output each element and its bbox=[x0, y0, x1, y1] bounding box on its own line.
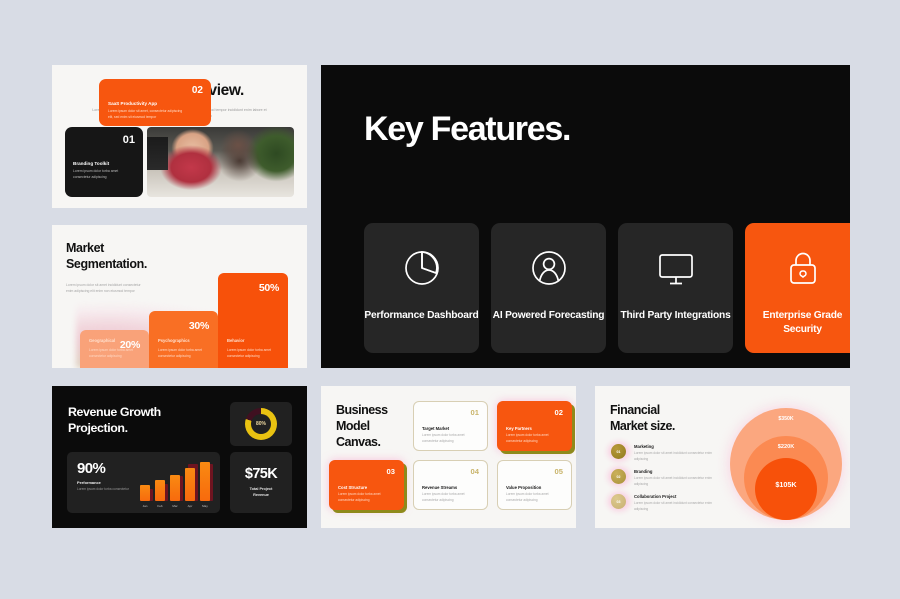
product-photo bbox=[147, 127, 294, 197]
bar bbox=[200, 462, 210, 501]
cell-body: Lorem ipsum dolor torba amet consectetur… bbox=[506, 433, 563, 444]
key-features-card-row: Performance DashboardAI Powered Forecast… bbox=[364, 223, 850, 353]
market-circle: $105K bbox=[755, 458, 817, 520]
title-line-2: Projection. bbox=[68, 421, 128, 435]
page-title: Key Features. bbox=[364, 110, 570, 149]
total-revenue-card: $75K Total Project Revenue bbox=[230, 452, 292, 513]
cell-number: 05 bbox=[555, 467, 563, 476]
bar bbox=[140, 485, 150, 501]
segment-description: Lorem ipsum dolor torba amet consectetur… bbox=[158, 348, 209, 360]
title-line-1: Financial bbox=[610, 403, 660, 417]
title-line-3: Canvas. bbox=[336, 435, 380, 449]
cell-body: Lorem ipsum dolor torba amet consectetur… bbox=[422, 433, 479, 444]
bar bbox=[185, 468, 195, 501]
title-line-1: Business bbox=[336, 403, 388, 417]
key-feature-card[interactable]: Third Party Integrations bbox=[618, 223, 733, 353]
legend-number-badge: 01 bbox=[611, 444, 626, 459]
title-line-2: Market size. bbox=[610, 419, 675, 433]
slide-deck-preview: Product Overview. Lorem ipsum dolor sit … bbox=[0, 0, 900, 599]
legend-heading: Collaboration Project bbox=[634, 494, 676, 499]
financial-legend: 01MarketingLorem ipsum dolor sit amet in… bbox=[608, 443, 718, 518]
cell-heading: Target Market bbox=[422, 426, 449, 431]
revenue-bar-chart: JanFebMarAprMay bbox=[136, 458, 214, 508]
bar-month-label: May bbox=[198, 504, 212, 508]
key-feature-label: AI Powered Forecasting bbox=[493, 309, 605, 323]
cell-body: Lorem ipsum dolor torba amet consectetur… bbox=[506, 492, 563, 503]
card-number: 01 bbox=[123, 134, 135, 146]
performance-caption: Performance bbox=[77, 480, 101, 485]
legend-heading: Marketing bbox=[634, 444, 654, 449]
canvas-cell[interactable]: 02Key PartnersLorem ipsum dolor torba am… bbox=[497, 401, 572, 451]
cell-heading: Value Proposition bbox=[506, 485, 541, 490]
cell-number: 02 bbox=[555, 408, 563, 417]
page-title: Revenue Growth Projection. bbox=[68, 405, 218, 437]
cell-body: Lorem ipsum dolor torba amet consectetur… bbox=[338, 492, 395, 503]
donut-ring: 80% bbox=[245, 408, 277, 440]
nested-circle-chart: $350K$220K$105K bbox=[724, 398, 846, 526]
cell-heading: Key Partners bbox=[506, 426, 532, 431]
legend-item[interactable]: 03Collaboration ProjectLorem ipsum dolor… bbox=[608, 493, 718, 518]
segment-bar: 20%GeographicalLorem ipsum dolor torba a… bbox=[80, 330, 149, 368]
kpi-value: $75K bbox=[245, 466, 277, 482]
segment-percent: 30% bbox=[189, 320, 209, 332]
key-feature-card[interactable]: Enterprise Grade Security bbox=[745, 223, 850, 353]
card-heading: SaaS Productivity App bbox=[108, 101, 157, 106]
segment-label: Psychographics bbox=[158, 338, 190, 343]
user-profile-icon bbox=[526, 245, 572, 291]
slide-revenue-growth[interactable]: Revenue Growth Projection. 80% 90% Perfo… bbox=[52, 386, 307, 528]
slide-product-overview[interactable]: Product Overview. Lorem ipsum dolor sit … bbox=[52, 65, 307, 208]
performance-value: 90% bbox=[77, 460, 105, 477]
title-line-2: Model bbox=[336, 419, 370, 433]
card-body: Lorem ipsum dolor sit amet, consectetur … bbox=[108, 109, 187, 120]
bar-month-label: Apr bbox=[183, 504, 197, 508]
canvas-cell[interactable]: 03Cost StructureLorem ipsum dolor torba … bbox=[329, 460, 404, 510]
kpi-caption-line-1: Total Project bbox=[250, 487, 273, 491]
bar bbox=[155, 480, 165, 501]
market-circle-value: $220K bbox=[778, 444, 794, 450]
key-feature-card[interactable]: Performance Dashboard bbox=[364, 223, 479, 353]
card-heading: Branding Toolkit bbox=[73, 161, 109, 166]
key-feature-card[interactable]: AI Powered Forecasting bbox=[491, 223, 606, 353]
slide-business-model-canvas[interactable]: Business Model Canvas. 01Target MarketLo… bbox=[321, 386, 576, 528]
cell-number: 03 bbox=[387, 467, 395, 476]
segment-label: Geographical bbox=[89, 338, 115, 343]
cell-number: 01 bbox=[471, 408, 479, 417]
performance-card: 90% Performance Lorem ipsum dolor torba … bbox=[67, 452, 220, 513]
segment-description: Lorem ipsum dolor torba amet consectetur… bbox=[89, 348, 140, 360]
revenue-donut-chart: 80% bbox=[230, 402, 292, 446]
legend-body: Lorem ipsum dolor sit amet incididunt co… bbox=[634, 451, 718, 462]
legend-item[interactable]: 01MarketingLorem ipsum dolor sit amet in… bbox=[608, 443, 718, 468]
key-feature-label: Third Party Integrations bbox=[620, 309, 730, 323]
legend-number-badge: 02 bbox=[611, 469, 626, 484]
legend-body: Lorem ipsum dolor sit amet incididunt co… bbox=[634, 476, 718, 487]
bar-month-label: Feb bbox=[153, 504, 167, 508]
market-circle-value: $105K bbox=[775, 480, 796, 489]
performance-note: Lorem ipsum dolor torba consectetur bbox=[77, 487, 139, 493]
slide-key-features[interactable]: Key Features. Performance DashboardAI Po… bbox=[321, 65, 850, 368]
segment-label: Behavior bbox=[227, 338, 245, 343]
product-card-01[interactable]: 01 Branding Toolkit Lorem ipsum dolor to… bbox=[65, 127, 143, 197]
legend-item[interactable]: 02BrandingLorem ipsum dolor sit amet inc… bbox=[608, 468, 718, 493]
segment-description: Lorem ipsum dolor torba amet consectetur… bbox=[227, 348, 279, 360]
cell-number: 04 bbox=[471, 467, 479, 476]
title-line-1: Revenue Growth bbox=[68, 405, 161, 419]
cell-heading: Revenue Streams bbox=[422, 485, 457, 490]
lock-icon bbox=[780, 245, 826, 291]
bar bbox=[170, 475, 180, 501]
market-segmentation-bar-chart: 20%GeographicalLorem ipsum dolor torba a… bbox=[80, 258, 288, 368]
pie-chart-icon bbox=[399, 245, 445, 291]
card-body: Lorem ipsum dolor torba amet consectetur… bbox=[73, 169, 135, 181]
canvas-cell[interactable]: 01Target MarketLorem ipsum dolor torba a… bbox=[413, 401, 488, 451]
product-card-row: 01 Branding Toolkit Lorem ipsum dolor to… bbox=[65, 127, 294, 197]
slide-market-segmentation[interactable]: Market Segmentation. Lorem ipsum dolor s… bbox=[52, 225, 307, 368]
kpi-caption-line-2: Revenue bbox=[253, 493, 269, 497]
monitor-icon bbox=[653, 245, 699, 291]
card-number: 02 bbox=[192, 85, 203, 96]
product-card-02[interactable]: 02 SaaS Productivity App Lorem ipsum dol… bbox=[99, 79, 211, 126]
slide-financial-market-size[interactable]: Financial Market size. 01MarketingLorem … bbox=[595, 386, 850, 528]
cell-body: Lorem ipsum dolor torba amet consectetur… bbox=[422, 492, 479, 503]
bar-month-label: Jan bbox=[138, 504, 152, 508]
segment-bar: 50%BehaviorLorem ipsum dolor torba amet … bbox=[218, 273, 288, 368]
segment-bar: 30%PsychographicsLorem ipsum dolor torba… bbox=[149, 311, 218, 368]
title-line-1: Market bbox=[66, 241, 104, 255]
legend-number-badge: 03 bbox=[611, 494, 626, 509]
bar-month-label: Mar bbox=[168, 504, 182, 508]
page-title: Financial Market size. bbox=[610, 403, 675, 435]
page-title: Business Model Canvas. bbox=[336, 403, 388, 450]
kpi-caption: Total Project Revenue bbox=[250, 487, 273, 498]
market-circle-value: $350K bbox=[778, 416, 793, 422]
legend-heading: Branding bbox=[634, 469, 652, 474]
cell-heading: Cost Structure bbox=[338, 485, 367, 490]
canvas-cell[interactable]: 04Revenue StreamsLorem ipsum dolor torba… bbox=[413, 460, 488, 510]
canvas-cell[interactable]: 05Value PropositionLorem ipsum dolor tor… bbox=[497, 460, 572, 510]
legend-body: Lorem ipsum dolor sit amet incididunt co… bbox=[634, 501, 718, 512]
key-feature-label: Enterprise Grade Security bbox=[745, 309, 850, 337]
segment-percent: 50% bbox=[259, 282, 279, 294]
key-feature-label: Performance Dashboard bbox=[364, 309, 478, 323]
donut-value: 80% bbox=[256, 421, 266, 427]
